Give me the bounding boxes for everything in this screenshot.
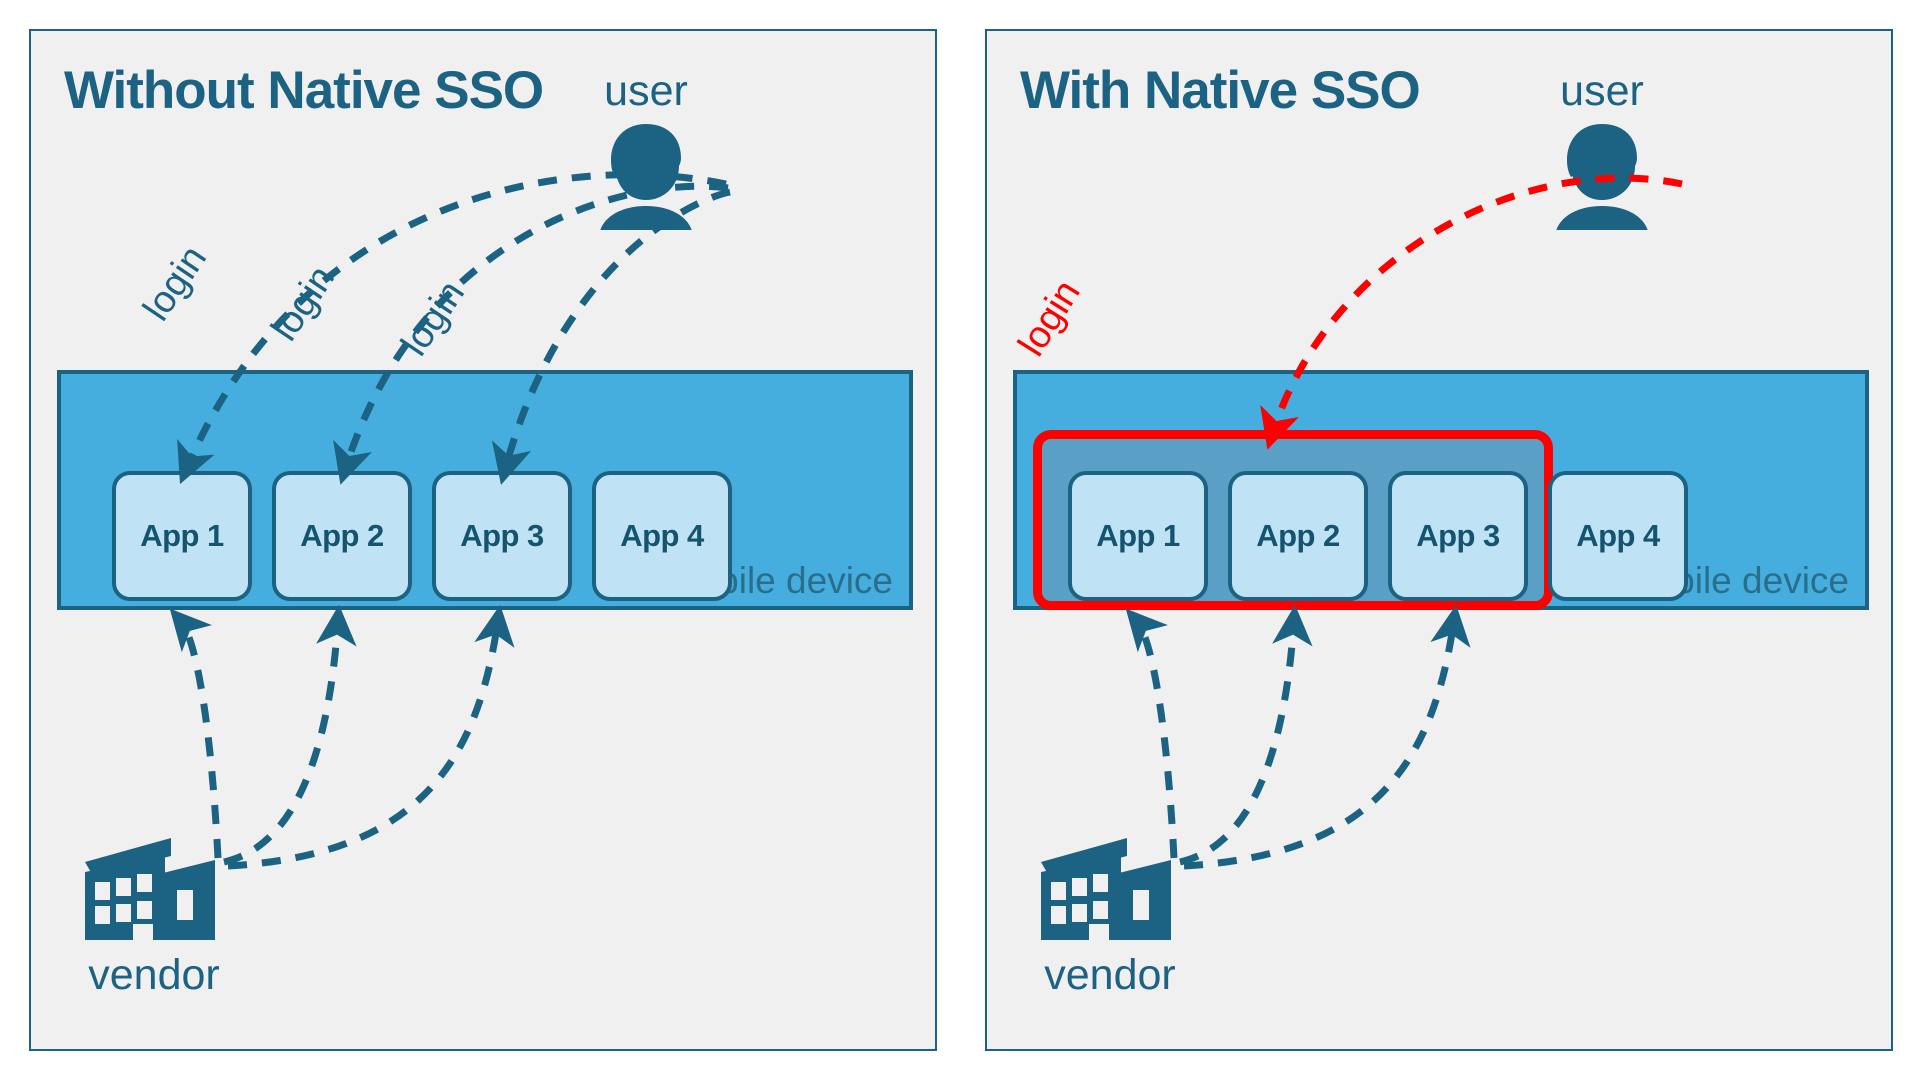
app-tile-2-left[interactable]: App 2 [272, 471, 412, 601]
panel-without-native-sso: Without Native SSO user mobile device Ap… [29, 29, 937, 1051]
vendor-building-icon-right [1037, 836, 1183, 944]
user-icon [591, 120, 701, 230]
login-label-2-left: login [263, 258, 344, 349]
panel-with-native-sso: With Native SSO user mobile device App 1… [985, 29, 1893, 1051]
panel-title-right: With Native SSO [1020, 60, 1420, 121]
app-tile-2-right[interactable]: App 2 [1228, 471, 1368, 601]
app-tile-1-right[interactable]: App 1 [1068, 471, 1208, 601]
vendor-label-left: vendor [63, 951, 245, 1000]
user-label-left: user [579, 67, 713, 116]
app-tile-3-left[interactable]: App 3 [432, 471, 572, 601]
vendor-label-right: vendor [1019, 951, 1201, 1000]
login-label-right: login [1011, 273, 1090, 364]
panel-title-left: Without Native SSO [64, 60, 543, 121]
vendor-building-icon-left [81, 836, 227, 944]
login-label-3-left: login [393, 273, 474, 364]
app-tile-3-right[interactable]: App 3 [1388, 471, 1528, 601]
app-tile-4-left[interactable]: App 4 [592, 471, 732, 601]
app-tile-4-right[interactable]: App 4 [1548, 471, 1688, 601]
diagram-canvas: Without Native SSO user mobile device Ap… [0, 0, 1920, 1080]
app-tile-1-left[interactable]: App 1 [112, 471, 252, 601]
login-label-1-left: login [135, 238, 216, 329]
user-label-right: user [1535, 67, 1669, 116]
user-icon [1547, 120, 1657, 230]
